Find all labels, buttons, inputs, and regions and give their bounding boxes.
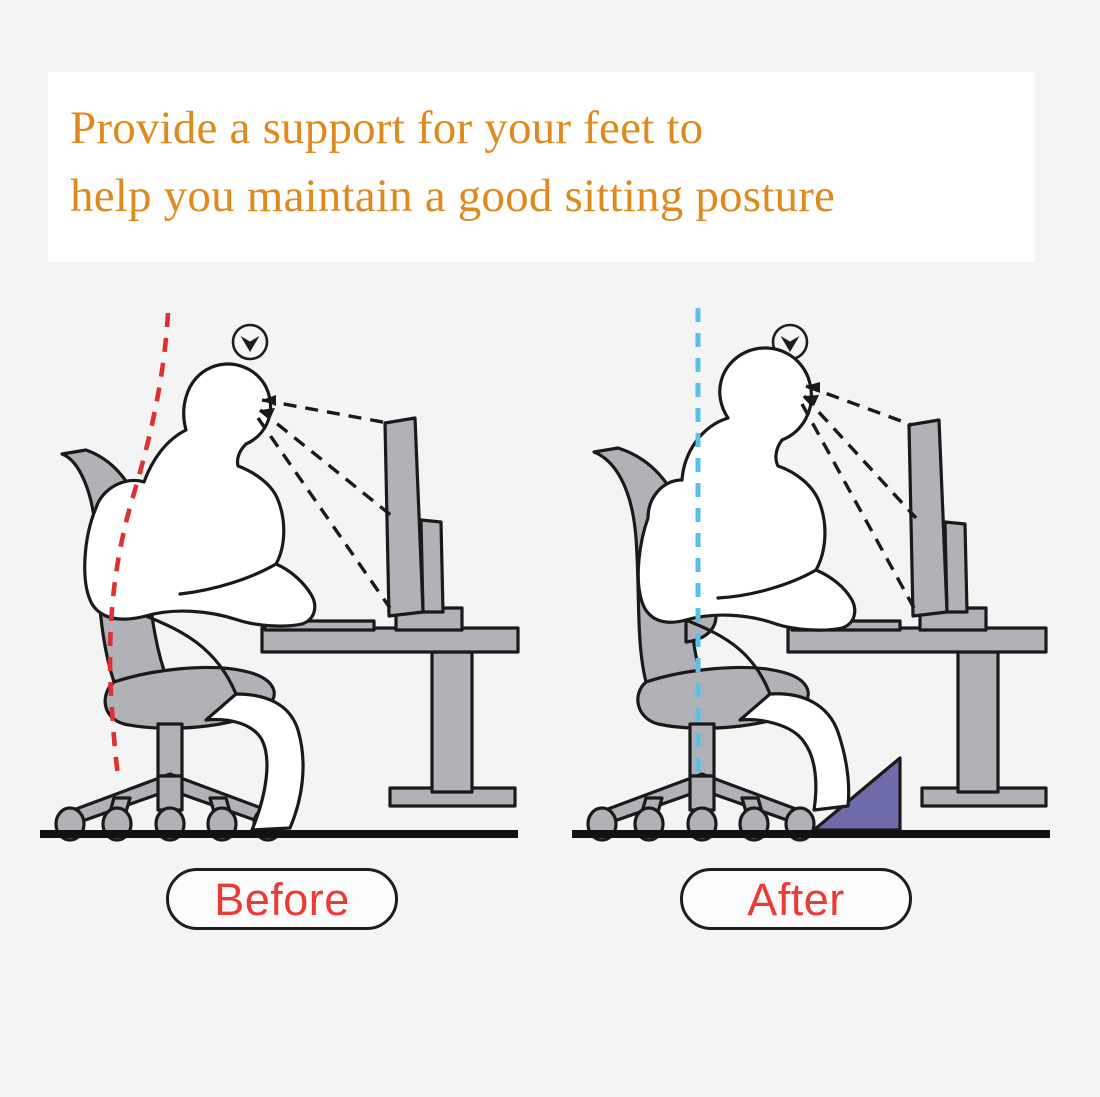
figure-after: After <box>570 290 1050 970</box>
status-badge-after: After <box>680 868 912 930</box>
figure-before: Before <box>40 290 520 970</box>
comparison-figures: Before <box>0 290 1100 970</box>
illustration-after <box>570 290 1050 850</box>
headline-panel: Provide a support for your feet to help … <box>48 72 1035 262</box>
page-title: Provide a support for your feet to help … <box>70 94 1035 230</box>
status-badge-before: Before <box>166 868 398 930</box>
status-badge-label: Before <box>214 877 350 922</box>
poster-root: Provide a support for your feet to help … <box>0 0 1100 1097</box>
status-badge-label: After <box>747 877 845 922</box>
illustration-before <box>40 290 520 850</box>
